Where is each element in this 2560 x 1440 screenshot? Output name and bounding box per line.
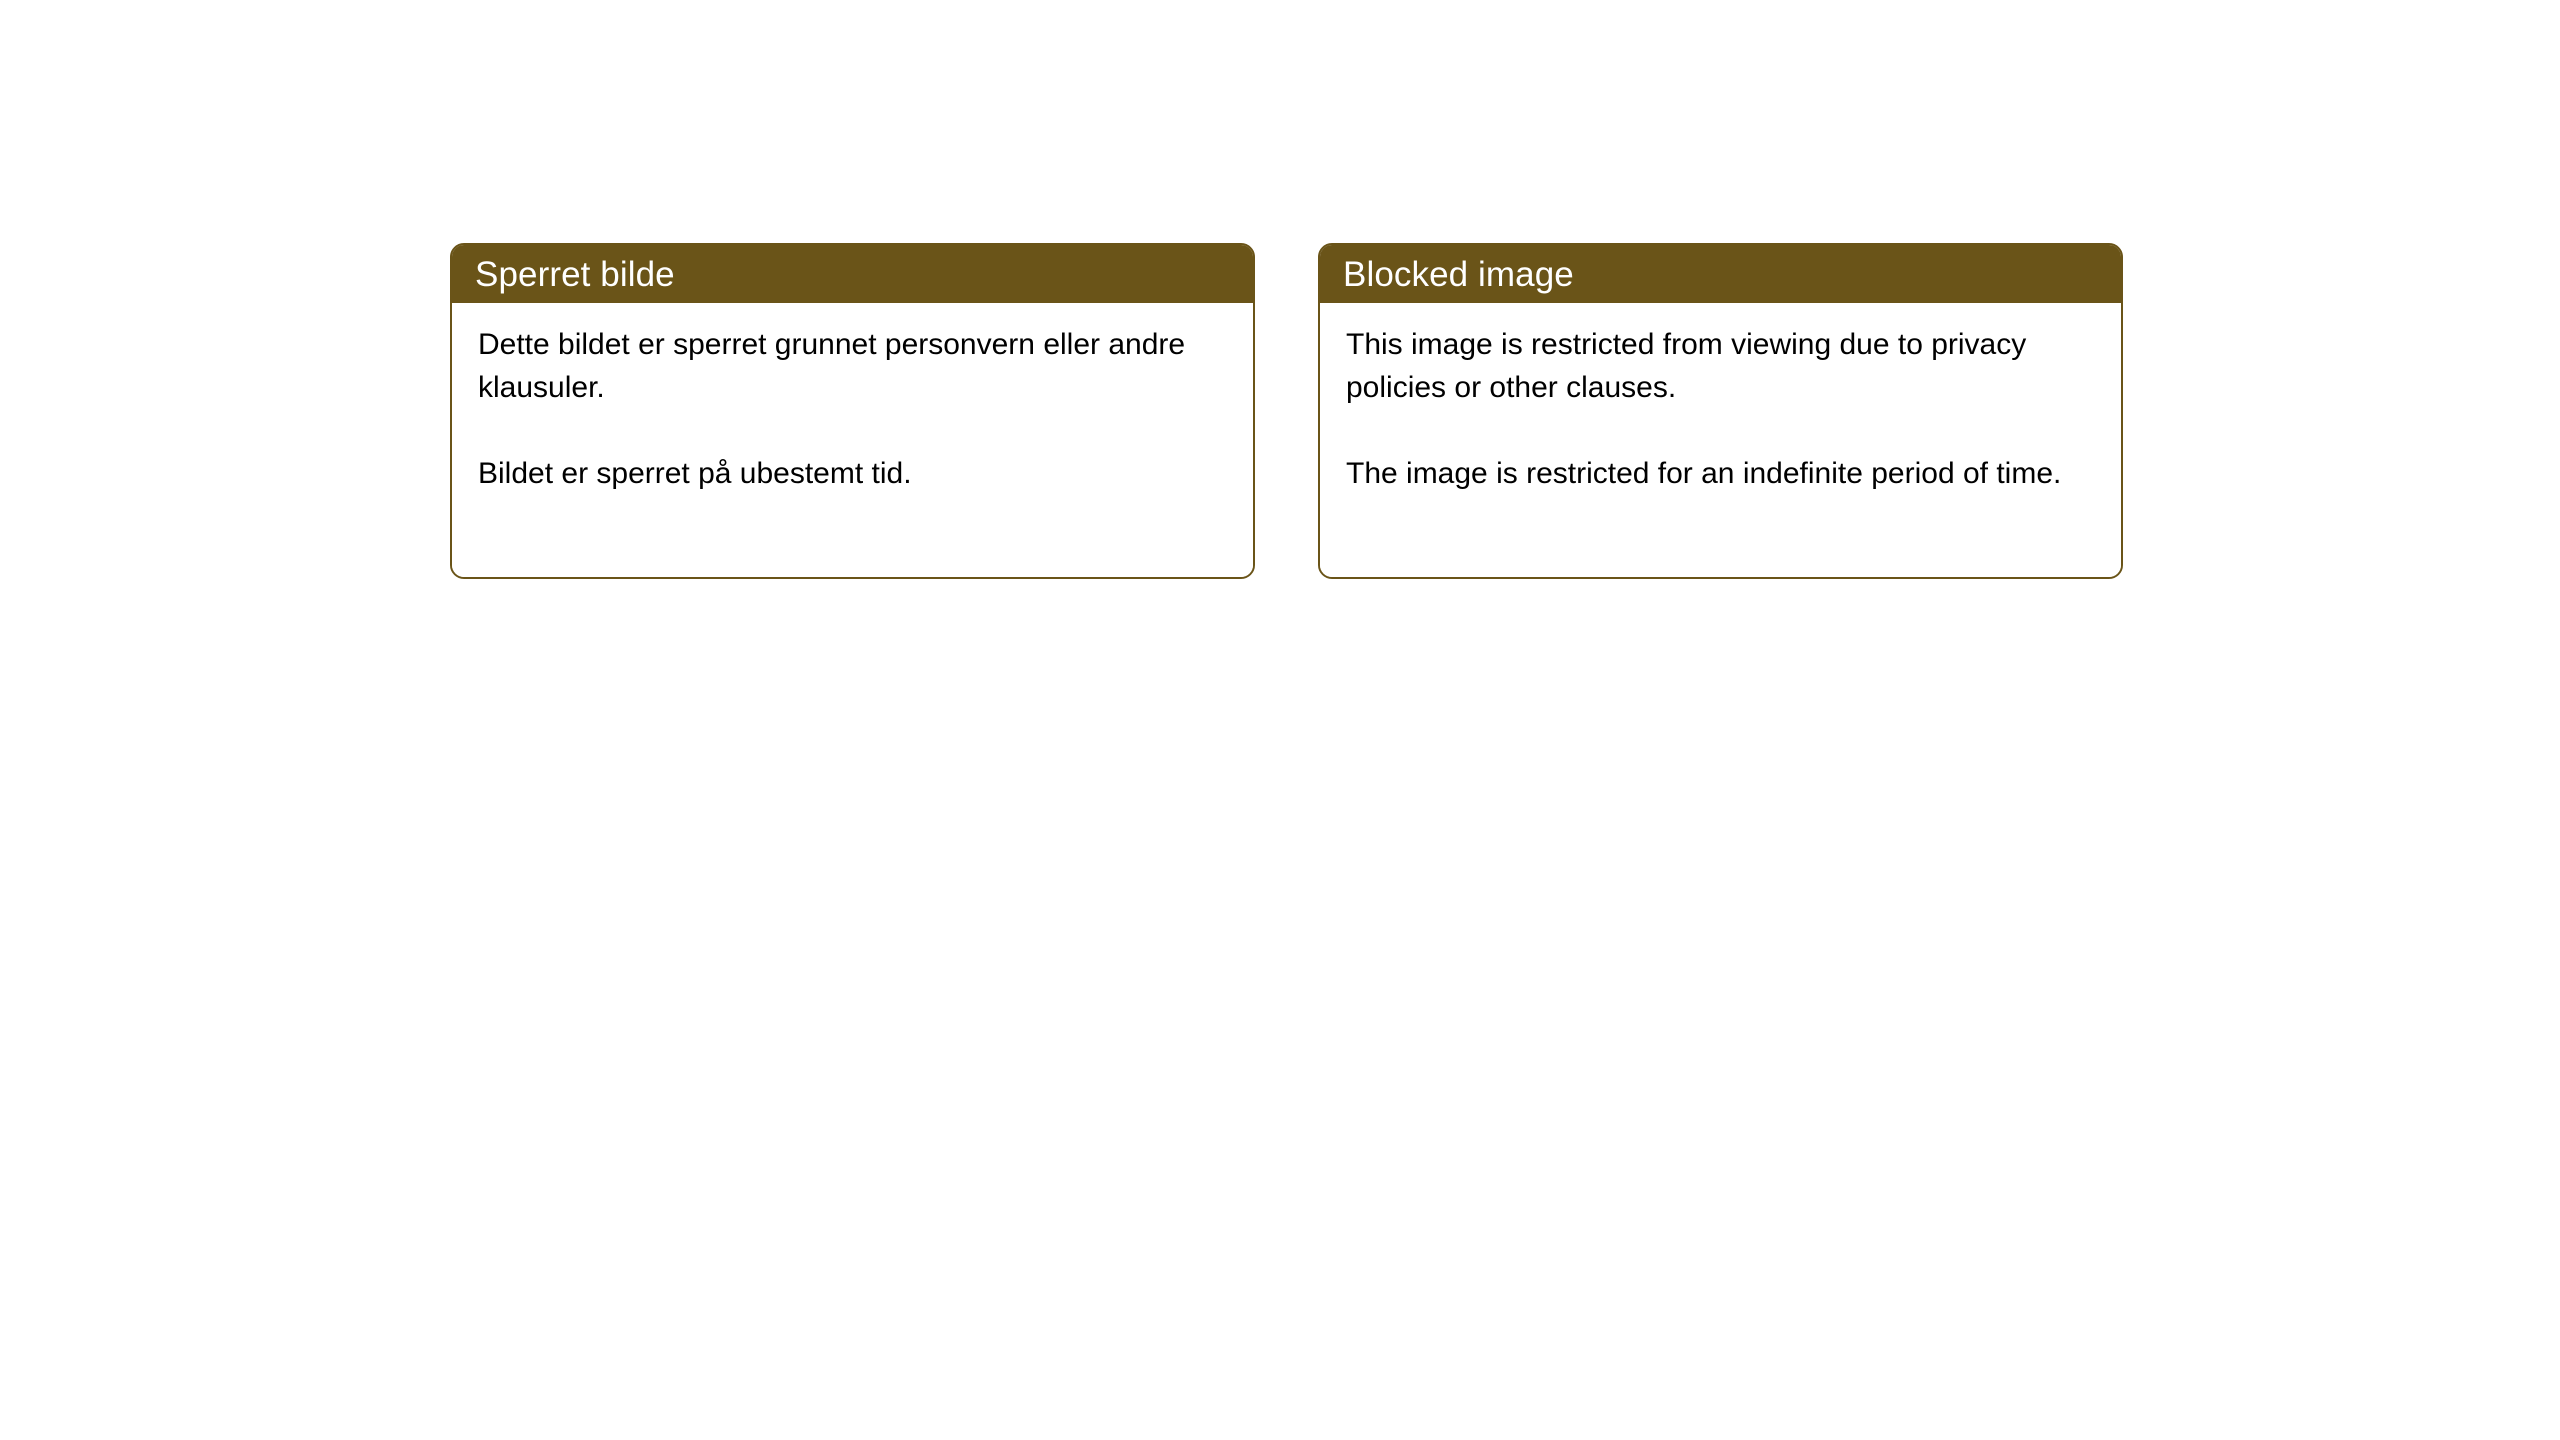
card-title-norwegian: Sperret bilde	[475, 257, 675, 292]
paragraph-spacer-norwegian	[478, 409, 1231, 452]
page-root: Sperret bilde Dette bildet er sperret gr…	[0, 0, 2560, 1440]
card-paragraph-reason-norwegian: Dette bildet er sperret grunnet personve…	[478, 323, 1231, 409]
card-body-english: This image is restricted from viewing du…	[1320, 303, 2121, 577]
card-body-norwegian: Dette bildet er sperret grunnet personve…	[452, 303, 1253, 577]
card-header-norwegian: Sperret bilde	[452, 245, 1253, 303]
blocked-image-card-english: Blocked image This image is restricted f…	[1318, 243, 2123, 579]
card-paragraph-reason-english: This image is restricted from viewing du…	[1346, 323, 2099, 409]
card-title-english: Blocked image	[1343, 257, 1574, 292]
blocked-image-card-norwegian: Sperret bilde Dette bildet er sperret gr…	[450, 243, 1255, 579]
paragraph-spacer-english	[1346, 409, 2099, 452]
notice-cards-container: Sperret bilde Dette bildet er sperret gr…	[450, 243, 2123, 579]
card-header-english: Blocked image	[1320, 245, 2121, 303]
card-paragraph-duration-norwegian: Bildet er sperret på ubestemt tid.	[478, 452, 1231, 495]
card-paragraph-duration-english: The image is restricted for an indefinit…	[1346, 452, 2099, 495]
